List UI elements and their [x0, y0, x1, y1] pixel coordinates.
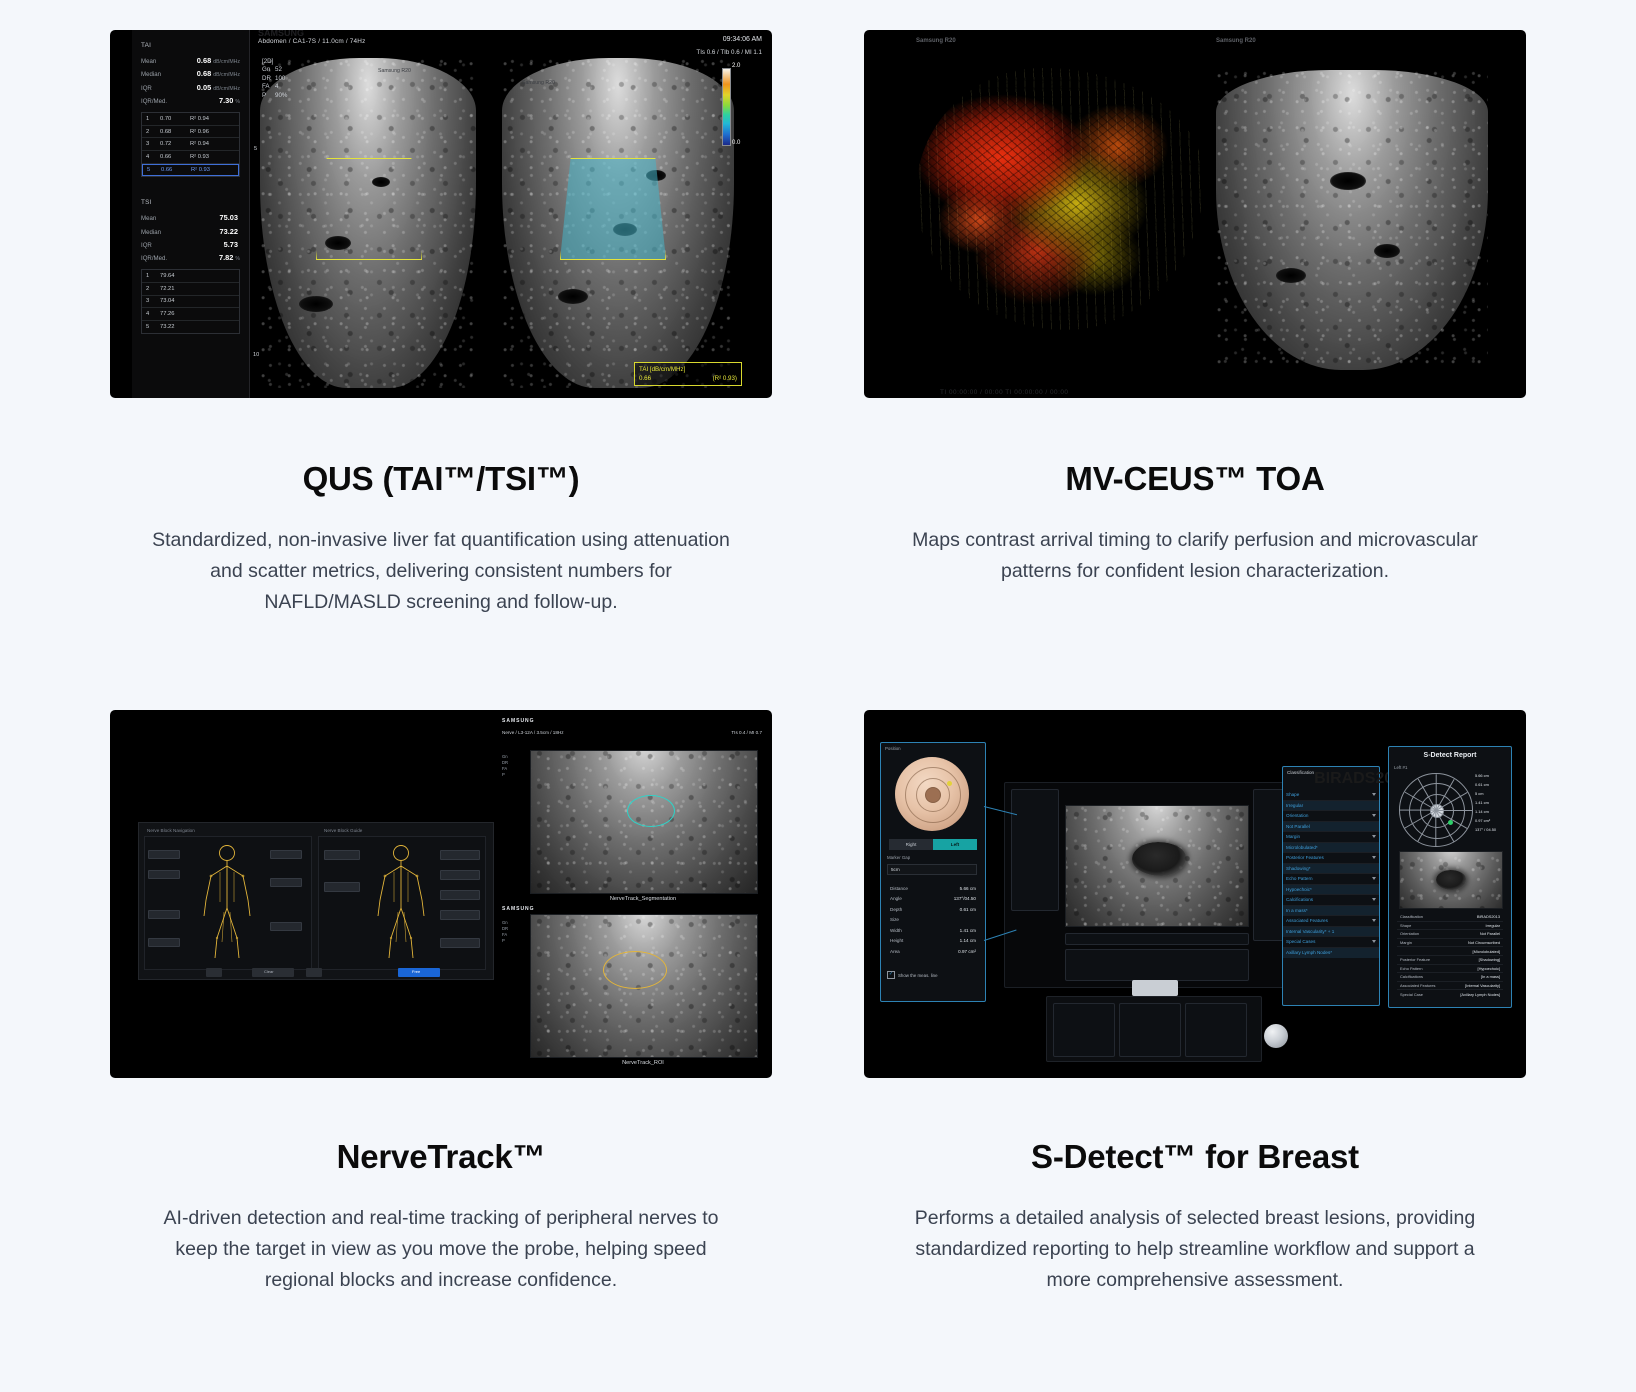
thermal-index: TIs 0.6 / TIb 0.6 / MI 1.1 [696, 49, 762, 56]
tai-stat-iqr: IQR 0.05dB/cm/MHz [141, 83, 240, 92]
nerve-label-chip[interactable] [270, 850, 302, 859]
body-figure-front-icon [196, 842, 258, 962]
stat-value: 7.82 [219, 253, 233, 262]
row-index: 5 [146, 324, 160, 330]
classification-row[interactable]: Shape [1283, 790, 1379, 801]
sdetect-report-panel: S-Detect Report Left #1 [1388, 746, 1512, 1008]
measurement-label: Height [890, 938, 903, 943]
console-pane[interactable] [1119, 1003, 1181, 1057]
measurement-row: Height 1.14 cm [887, 936, 979, 947]
row-index: 4 [146, 311, 160, 317]
next-button[interactable] [306, 968, 322, 977]
measurement-label: Distance [890, 886, 908, 891]
finding-value: Not Circumscribed [1468, 940, 1500, 945]
finding-value: [Axillary Lymph Nodes] [1460, 992, 1500, 997]
measurement-value: 1.41 cm [960, 928, 976, 933]
imaging-params: [2D] Gn52 DR100 FA4 P90% [262, 58, 287, 100]
monitor-left-menu[interactable] [1011, 789, 1059, 911]
finding-row: Special Case [Axillary Lymph Nodes] [1397, 990, 1503, 999]
row-value: 72.21 [160, 286, 190, 292]
segmentation-caption: NerveTrack_Segmentation [530, 896, 756, 902]
nerve-label-chip[interactable] [440, 910, 480, 920]
measurement-label: Width [890, 928, 902, 933]
watermark-left: Samsung R20 [916, 38, 956, 45]
stat-value: 75.03 [220, 213, 239, 222]
monitor-toolbar[interactable] [1065, 933, 1249, 945]
chevron-down-icon[interactable] [1372, 814, 1376, 817]
nerve-label-chip[interactable] [270, 878, 302, 887]
tsi-measurement-table: 1 79.64 2 72.21 3 73.04 4 77.26 [141, 269, 240, 334]
row-index: 1 [146, 116, 160, 122]
finding-value: [Internal Vascularity] [1465, 983, 1500, 988]
tai-stat-iqr-med: IQR/Med. 7.30% [141, 96, 240, 105]
nerve-label-chip[interactable] [440, 850, 480, 860]
row-label: Shadowing* [1286, 866, 1311, 871]
finding-value: [Microlobulated] [1473, 949, 1500, 954]
qus-measurement-panel: TAI Mean 0.68dB/cm/MHz Median 0.68dB/cm/… [132, 30, 250, 398]
finding-label: Orientation [1400, 931, 1419, 936]
table-row[interactable]: 5 73.22 [142, 321, 239, 334]
breast-lesion [1132, 842, 1186, 876]
measurement-value: 1.41 cm [1475, 800, 1489, 805]
vessel-shadow [558, 289, 588, 304]
classification-row-list: Shape Irregular Orientation Not Parallel… [1283, 790, 1379, 958]
measurement-value: 1.14 cm [960, 938, 976, 943]
stat-value: 73.22 [220, 227, 239, 236]
right-pane-title: Nerve Block Guide [324, 828, 362, 833]
monitor-ultrasound-image [1065, 805, 1249, 927]
vessel-shadow [1276, 268, 1306, 283]
free-button-label: Free [412, 969, 420, 974]
device-brand: SAMSUNG [502, 906, 535, 912]
control-console[interactable] [1046, 996, 1262, 1062]
row-r2: R² 0.96 [190, 129, 235, 135]
classification-row[interactable]: Echo Pattern [1283, 874, 1379, 885]
marker-gap-field[interactable]: 5cm [887, 864, 977, 875]
roi-caption: NerveTrack_ROI [530, 1060, 756, 1066]
mvceus-screenshot: Samsung R20 Samsung R20 TI 00:00:00 / 00… [864, 30, 1526, 398]
nerve-label-chip[interactable] [324, 850, 360, 860]
stat-label: IQR/Med. [141, 255, 167, 262]
measurement-value: 137° / 04.50 [1475, 827, 1496, 832]
finding-row: Echo Pattern [Hypoechoic] [1397, 965, 1503, 974]
stat-label: Mean [141, 58, 156, 65]
finding-label: Associated Features [1400, 983, 1435, 988]
row-r2: R² 0.94 [190, 116, 235, 122]
row-label: Associated Features [1286, 918, 1328, 923]
thermal-index: TIs 0.4 / MI 0.7 [731, 730, 762, 735]
depth-mark: 5 [254, 146, 257, 152]
position-measurement-list: Distance 5.66 cm Angle 137°/04.50 Depth … [887, 883, 979, 957]
measurement-value: 1.14 cm [1475, 809, 1489, 814]
stat-label: Median [141, 229, 161, 236]
tai-stat-mean: Mean 0.68dB/cm/MHz [141, 56, 240, 65]
finding-row: Associated Features [Internal Vascularit… [1397, 982, 1503, 991]
row-label: Hypoechoic* [1286, 887, 1312, 892]
row-r2: R² 0.93 [190, 154, 235, 160]
stat-unit: dB/cm/MHz [213, 86, 240, 92]
row-r2: R² 0.94 [190, 141, 235, 147]
classification-row[interactable]: Special Cases [1283, 937, 1379, 948]
row-r2: R² 0.93 [191, 167, 234, 173]
row-index: 2 [146, 286, 160, 292]
report-measurement-row: 5 cm [1475, 791, 1507, 800]
diagram-nipple [925, 787, 941, 803]
card-description-sdetect: Performs a detailed analysis of selected… [895, 1203, 1495, 1296]
side-toggle[interactable]: Right Left [889, 839, 977, 850]
chevron-down-icon[interactable] [1372, 940, 1376, 943]
side-readout: GnDRFAP [502, 920, 508, 944]
measurement-label: Angle [890, 896, 902, 901]
measurement-row: Depth 0.61 cm [887, 904, 979, 915]
param-key: P [262, 92, 275, 100]
stat-unit: % [235, 99, 240, 105]
finding-row: Calcifications [In a mass] [1397, 973, 1503, 982]
measurement-value: 137°/04.50 [954, 896, 976, 901]
finding-row: [Microlobulated] [1397, 947, 1503, 956]
nervetrack-roi-view [530, 914, 758, 1058]
mvceus-bmode-image [1216, 70, 1488, 370]
feature-card-qus: TAI Mean 0.68dB/cm/MHz Median 0.68dB/cm/… [80, 30, 802, 618]
param-value: 4 [275, 83, 278, 90]
classification-row-selected[interactable]: Not Parallel [1283, 822, 1379, 833]
breast-lesion [1436, 870, 1466, 890]
row-label: Echo Pattern [1286, 876, 1313, 881]
classification-title: Classification [1287, 770, 1314, 788]
clock-face-diagram [1399, 773, 1473, 847]
finding-row: Shape Irregular [1397, 922, 1503, 931]
feature-card-nervetrack: SAMSUNG Nerve / L3-12A / 3.5cm / 18Hz TI… [80, 710, 802, 1296]
row-value: 0.66 [161, 167, 191, 173]
classification-panel: Classification BIRADS2013 Shape Irregula… [1282, 766, 1380, 1006]
show-meas-line-checkbox-row[interactable]: ✓ Show the meas. line [887, 971, 938, 979]
finding-label: Echo Pattern [1400, 966, 1423, 971]
tai-measurement-table: 1 0.70 R² 0.94 2 0.68 R² 0.96 3 0.72 R² … [141, 112, 240, 177]
nervetrack-screenshot: SAMSUNG Nerve / L3-12A / 3.5cm / 18Hz TI… [110, 710, 772, 1078]
nerve-label-chip[interactable] [148, 870, 180, 879]
row-value: 0.72 [160, 141, 190, 147]
clear-button-label: Clear [264, 969, 274, 974]
left-pane-title: Nerve Block Navigation [147, 828, 195, 833]
measurement-label: Size [890, 917, 899, 922]
colorbar-min-label: 0.0 [732, 140, 740, 146]
nerve-label-chip[interactable] [270, 922, 302, 931]
row-label: Shape [1286, 792, 1299, 797]
nerve-label-chip[interactable] [440, 870, 480, 880]
table-row[interactable]: 4 77.26 [142, 308, 239, 321]
ultrasound-monitor [1004, 782, 1306, 988]
row-index: 1 [146, 273, 160, 279]
stat-value: 7.30 [219, 96, 233, 105]
colorbar-max-label: 2.0 [732, 63, 740, 69]
readout-title: TAI [dB/cm/MHz] [639, 365, 737, 374]
measurement-value: 0.61 cm [1475, 782, 1489, 787]
report-measurement-list: 5.66 cm 0.61 cm 5 cm 1.41 cm 1.14 cm [1475, 773, 1507, 836]
row-label: Special Cases [1286, 939, 1315, 944]
chevron-down-icon[interactable] [1372, 793, 1376, 796]
nerve-label-chip[interactable] [440, 890, 480, 900]
clock: 09:34:06 AM [723, 36, 762, 43]
card-title-nervetrack: NerveTrack™ [337, 1138, 546, 1176]
param-value: 52 [275, 66, 282, 73]
finding-label: Special Case [1400, 992, 1423, 997]
report-title: S-Detect Report [1389, 752, 1511, 759]
feature-card-sdetect: Position Right Left Marker Gap 5cm Dista… [834, 710, 1556, 1296]
device-brand: SAMSUNG [502, 718, 535, 724]
classification-row[interactable]: Orientation [1283, 811, 1379, 822]
sdetect-screenshot: Position Right Left Marker Gap 5cm Dista… [864, 710, 1526, 1078]
stat-label: Median [141, 71, 161, 78]
table-row[interactable]: 4 0.66 R² 0.93 [142, 151, 239, 164]
toggle-right[interactable]: Right [889, 839, 933, 850]
row-value: 0.66 [160, 154, 190, 160]
report-thumbnail [1399, 851, 1503, 909]
row-label: Posterior Features [1286, 855, 1324, 860]
finding-value: [Hypoechoic] [1478, 966, 1501, 971]
ceus-toa-map [916, 68, 1204, 330]
table-row[interactable]: 1 79.64 [142, 270, 239, 283]
nerve-label-chip[interactable] [324, 882, 360, 892]
classification-row[interactable]: Margin [1283, 832, 1379, 843]
row-index: 5 [147, 167, 161, 173]
tai-section-label: TAI [141, 42, 240, 49]
prev-button[interactable] [206, 968, 222, 977]
feature-card-mvceus: Samsung R20 Samsung R20 TI 00:00:00 / 00… [834, 30, 1556, 618]
finding-row: Posterior Feature [Shadowing] [1397, 956, 1503, 965]
speckle-texture [1216, 70, 1488, 370]
card-description-nervetrack: AI-driven detection and real-time tracki… [141, 1203, 741, 1296]
tsi-section-label: TSI [141, 199, 240, 206]
device-brand: SAMSUNG [258, 30, 304, 38]
classification-row-selected[interactable]: Hypoechoic* [1283, 885, 1379, 896]
row-label: Axillary Lymph Nodes* [1286, 950, 1332, 955]
finding-value: BIRADS2013 [1477, 914, 1500, 919]
nerve-label-chip[interactable] [148, 910, 180, 919]
nerve-label-chip[interactable] [148, 938, 180, 947]
finding-label: Classification [1400, 914, 1423, 919]
console-stand [1132, 980, 1178, 996]
report-lesion-id: Left #1 [1394, 765, 1407, 770]
row-label: Not Parallel [1286, 824, 1310, 829]
position-panel-title: Position [885, 746, 901, 751]
finding-label: Posterior Feature [1400, 957, 1430, 962]
measurement-value: 0.61 cm [960, 907, 976, 912]
position-panel: Position Right Left Marker Gap 5cm Dista… [880, 742, 986, 1002]
row-label: Orientation [1286, 813, 1308, 818]
colorbar [722, 68, 731, 146]
param-key: DR [262, 75, 275, 83]
tsi-stat-median: Median 73.22 [141, 227, 240, 236]
table-row-selected[interactable]: 5 0.66 R² 0.93 [142, 164, 239, 177]
classification-row-selected[interactable]: Internal Vascularity* + 1 [1283, 927, 1379, 938]
report-measurement-row: 5.66 cm [1475, 773, 1507, 782]
measurement-label: Area [890, 949, 900, 954]
body-figure-back-icon [370, 842, 432, 962]
measurement-row: Size [887, 915, 979, 926]
stat-unit: dB/cm/MHz [213, 72, 240, 78]
monitor-control-row[interactable] [1065, 949, 1249, 981]
marker-gap-label: Marker Gap [887, 855, 910, 860]
readout-r2: (R² 0.93) [713, 374, 737, 383]
nerve-label-chip[interactable] [440, 938, 480, 948]
watermark-right: Samsung R20 [1216, 38, 1256, 45]
readout-value: 0.66 [639, 374, 651, 383]
row-label: Margin [1286, 834, 1300, 839]
classification-row-selected[interactable]: In a mass* [1283, 906, 1379, 917]
table-row[interactable]: 3 0.72 R² 0.94 [142, 138, 239, 151]
chevron-down-icon[interactable] [1372, 898, 1376, 901]
report-measurement-row: 137° / 04.50 [1475, 827, 1507, 836]
tsi-stat-iqr-med: IQR/Med. 7.82% [141, 253, 240, 262]
report-measurement-row: 1.14 cm [1475, 809, 1507, 818]
stat-label: IQR [141, 85, 152, 92]
report-findings-table: Classification BIRADS2013 Shape Irregula… [1397, 913, 1503, 999]
finding-label: Calcifications [1400, 974, 1423, 979]
side-readout: GnDRFAP [502, 754, 508, 778]
measurement-value: 0.97 cm² [1475, 818, 1490, 823]
param-key: Gn [262, 66, 275, 74]
card-description-mvceus: Maps contrast arrival timing to clarify … [895, 525, 1495, 587]
table-row[interactable]: 3 73.04 [142, 296, 239, 309]
watermark: Samsung R20 [522, 80, 555, 86]
row-value: 0.70 [160, 116, 190, 122]
report-measurement-row: 1.41 cm [1475, 800, 1507, 809]
finding-row: Orientation Not Parallel [1397, 930, 1503, 939]
row-value: 0.68 [160, 129, 190, 135]
row-index: 4 [146, 154, 160, 160]
tai-stat-median: Median 0.68dB/cm/MHz [141, 69, 240, 78]
stat-unit: % [235, 256, 240, 262]
feature-grid: TAI Mean 0.68dB/cm/MHz Median 0.68dB/cm/… [0, 0, 1636, 1296]
exam-header: Nerve / L3-12A / 3.5cm / 18Hz [502, 730, 564, 735]
stat-label: Mean [141, 215, 156, 222]
nerve-label-chip[interactable] [148, 850, 180, 859]
measurement-value: 5 cm [1475, 791, 1483, 796]
table-row[interactable]: 2 72.21 [142, 283, 239, 296]
stat-label: IQR/Med. [141, 98, 167, 105]
microvascular-network-texture [916, 68, 1204, 330]
card-description-qus: Standardized, non-invasive liver fat qua… [141, 525, 741, 618]
chevron-down-icon[interactable] [1372, 835, 1376, 838]
tsi-stat-iqr: IQR 5.73 [141, 240, 240, 249]
nervetrack-segmentation-view [530, 750, 758, 894]
measurement-value: 5.66 cm [1475, 773, 1489, 778]
param-value: 90% [275, 92, 287, 99]
checkbox-label: Show the meas. line [898, 973, 938, 978]
report-measurement-row: 0.97 cm² [1475, 818, 1507, 827]
nerve-roi-overlay [603, 951, 667, 989]
console-pane[interactable] [1053, 1003, 1115, 1057]
stat-label: IQR [141, 242, 152, 249]
finding-row: Classification BIRADS2013 [1397, 913, 1503, 922]
card-title-qus: QUS (TAI™/TSI™) [303, 460, 580, 498]
stat-value: 0.68 [197, 56, 211, 65]
nerve-roi-overlay [627, 795, 675, 827]
qus-screenshot: TAI Mean 0.68dB/cm/MHz Median 0.68dB/cm/… [110, 30, 772, 398]
toggle-left[interactable]: Left [933, 839, 977, 850]
classification-row[interactable]: Posterior Features [1283, 853, 1379, 864]
exam-header: Abdomen / CA1-7S / 11.0cm / 74Hz [258, 38, 366, 45]
finding-row: Margin Not Circumscribed [1397, 939, 1503, 948]
param-value: 100 [275, 75, 285, 82]
measurement-value: 5.66 cm [960, 886, 976, 891]
measurement-label: Depth [890, 907, 902, 912]
row-label: Internal Vascularity* + 1 [1286, 929, 1334, 934]
measurement-value: 0.97 cm² [958, 949, 976, 954]
finding-label: Shape [1400, 923, 1411, 928]
row-value: 73.22 [160, 324, 190, 330]
measurement-row: Distance 5.66 cm [887, 883, 979, 894]
chevron-down-icon[interactable] [1372, 856, 1376, 859]
classification-row-selected[interactable]: Axillary Lymph Nodes* [1283, 948, 1379, 959]
stat-value: 0.68 [197, 69, 211, 78]
finding-label: Margin [1400, 940, 1412, 945]
row-label: Irregular [1286, 803, 1303, 808]
finding-value: Not Parallel [1480, 931, 1500, 936]
lesion-marker [1448, 820, 1453, 825]
stat-value: 0.05 [197, 83, 211, 92]
breast-position-diagram[interactable] [895, 757, 969, 831]
row-index: 3 [146, 298, 160, 304]
row-label: In a mass* [1286, 908, 1308, 913]
classification-row-selected[interactable]: Irregular [1283, 801, 1379, 812]
row-index: 2 [146, 129, 160, 135]
table-row[interactable]: 2 0.68 R² 0.96 [142, 126, 239, 139]
classification-row-selected[interactable]: Shadowing* [1283, 864, 1379, 875]
probe-icon [1264, 1024, 1288, 1048]
ceus-timer-footer: TI 00:00:00 / 00:00 TI 00:00:00 / 00:00 [940, 389, 1068, 396]
card-title-mvceus: MV-CEUS™ TOA [1065, 460, 1324, 498]
card-title-sdetect: S-Detect™ for Breast [1031, 1138, 1359, 1176]
measurement-row: Area 0.97 cm² [887, 946, 979, 957]
lesion-marker[interactable] [947, 781, 952, 786]
tai-readout-box: TAI [dB/cm/MHz] 0.66 (R² 0.93) [634, 362, 742, 386]
row-value: 79.64 [160, 273, 190, 279]
stat-value: 5.73 [224, 240, 238, 249]
finding-value: Irregular [1486, 923, 1501, 928]
qus-roi-outline[interactable] [316, 158, 422, 260]
vessel-shadow [299, 296, 333, 312]
chevron-down-icon[interactable] [1372, 877, 1376, 880]
finding-value: [In a mass] [1481, 974, 1500, 979]
stat-unit: dB/cm/MHz [213, 59, 240, 65]
row-value: 73.04 [160, 298, 190, 304]
watermark: Samsung R20 [378, 68, 411, 74]
vessel-shadow [1374, 244, 1400, 258]
depth-mark: 10 [253, 352, 259, 358]
row-label: Microlobulated* [1286, 845, 1318, 850]
tsi-stat-mean: Mean 75.03 [141, 213, 240, 222]
classification-row[interactable]: Calcifications [1283, 895, 1379, 906]
table-row[interactable]: 1 0.70 R² 0.94 [142, 113, 239, 126]
param-key: FA [262, 83, 275, 91]
row-value: 77.26 [160, 311, 190, 317]
console-pane[interactable] [1185, 1003, 1247, 1057]
classification-row[interactable]: Associated Features [1283, 916, 1379, 927]
finding-value: [Shadowing] [1479, 957, 1500, 962]
report-measurement-row: 0.61 cm [1475, 782, 1507, 791]
classification-row-selected[interactable]: Microlobulated* [1283, 843, 1379, 854]
measurement-row: Width 1.41 cm [887, 925, 979, 936]
row-label: Calcifications [1286, 897, 1313, 902]
vessel-shadow [1330, 172, 1366, 190]
imaging-mode: [2D] [262, 58, 287, 66]
checkbox-icon[interactable]: ✓ [887, 971, 895, 979]
row-index: 3 [146, 141, 160, 147]
chevron-down-icon[interactable] [1372, 919, 1376, 922]
qus-roi-filled[interactable] [560, 158, 666, 260]
measurement-row: Angle 137°/04.50 [887, 894, 979, 905]
